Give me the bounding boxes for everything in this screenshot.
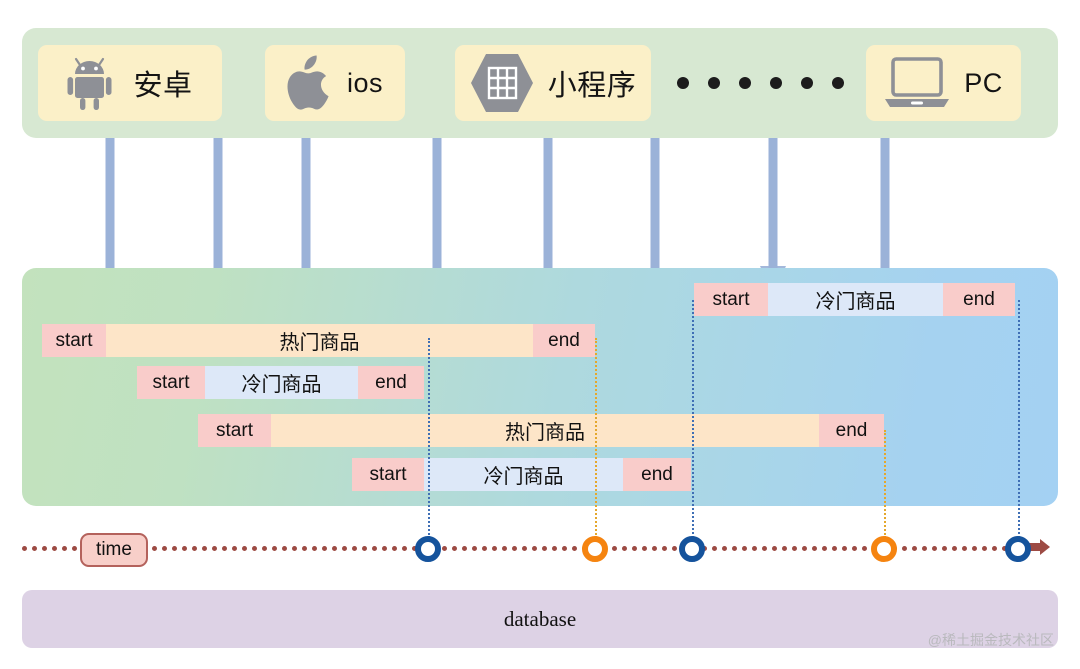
- database-label: database: [504, 607, 576, 632]
- session-end-label: end: [943, 283, 1015, 316]
- laptop-icon: [884, 57, 950, 109]
- timeline-guide-blue: [428, 338, 430, 538]
- android-robot-icon: [67, 56, 119, 110]
- ellipsis-dot: [832, 77, 844, 89]
- timeline-marker-blue[interactable]: [415, 536, 441, 562]
- session-start-label: start: [198, 414, 271, 447]
- session-start-label: start: [42, 324, 106, 357]
- timeline-arrow-icon: [1028, 539, 1050, 560]
- more-platforms-ellipsis: [672, 45, 848, 121]
- session-end-label: end: [819, 414, 884, 447]
- ellipsis-dot: [739, 77, 751, 89]
- ellipsis-dot: [677, 77, 689, 89]
- diagram-canvas: 安卓 ios 小程序 PC: [0, 0, 1080, 669]
- session-body-label: 冷门商品: [205, 366, 358, 399]
- platform-bar: 安卓 ios 小程序 PC: [22, 28, 1058, 138]
- time-label-pill: time: [80, 533, 148, 567]
- ellipsis-dot: [801, 77, 813, 89]
- session-end-label: end: [623, 458, 691, 491]
- session-body-label: 热门商品: [106, 324, 533, 357]
- timeline-guide-orange: [884, 430, 886, 538]
- session-start-label: start: [137, 366, 205, 399]
- platform-label-android: 安卓: [133, 62, 192, 104]
- platform-card-pc[interactable]: PC: [866, 45, 1021, 121]
- platform-label-ios: ios: [347, 68, 383, 99]
- session-end-label: end: [533, 324, 595, 357]
- apple-logo-icon: [287, 55, 333, 111]
- ellipsis-dot: [708, 77, 720, 89]
- session-body-label: 冷门商品: [768, 283, 943, 316]
- timeline-guide-blue: [1018, 300, 1020, 538]
- session-body-label: 热门商品: [271, 414, 819, 447]
- ellipsis-dot: [770, 77, 782, 89]
- timeline-marker-blue[interactable]: [679, 536, 705, 562]
- platform-card-android[interactable]: 安卓: [38, 45, 222, 121]
- session-bar-session-hot-1: start热门商品end: [42, 324, 595, 357]
- watermark: @稀土掘金技术社区: [928, 630, 1054, 650]
- platform-card-ios[interactable]: ios: [265, 45, 405, 121]
- session-start-label: start: [694, 283, 768, 316]
- timeline-guide-blue: [692, 300, 694, 538]
- timeline-guide-orange: [595, 338, 597, 538]
- session-bar-session-cold-2: start冷门商品end: [352, 458, 691, 491]
- timeline-marker-blue[interactable]: [1005, 536, 1031, 562]
- timeline-marker-orange[interactable]: [582, 536, 608, 562]
- session-bar-session-cold-top: start冷门商品end: [694, 283, 1015, 316]
- session-bar-session-hot-2: start热门商品end: [198, 414, 884, 447]
- timeline-marker-orange[interactable]: [871, 536, 897, 562]
- session-start-label: start: [352, 458, 424, 491]
- mini-program-hexagon-icon: [470, 53, 534, 113]
- session-end-label: end: [358, 366, 424, 399]
- session-bar-session-cold-1: start冷门商品end: [137, 366, 424, 399]
- database-bar: database: [22, 590, 1058, 648]
- time-label: time: [96, 539, 132, 561]
- platform-card-miniprogram[interactable]: 小程序: [455, 45, 651, 121]
- platform-label-miniprogram: 小程序: [548, 62, 637, 104]
- platform-label-pc: PC: [964, 68, 1003, 99]
- session-body-label: 冷门商品: [424, 458, 623, 491]
